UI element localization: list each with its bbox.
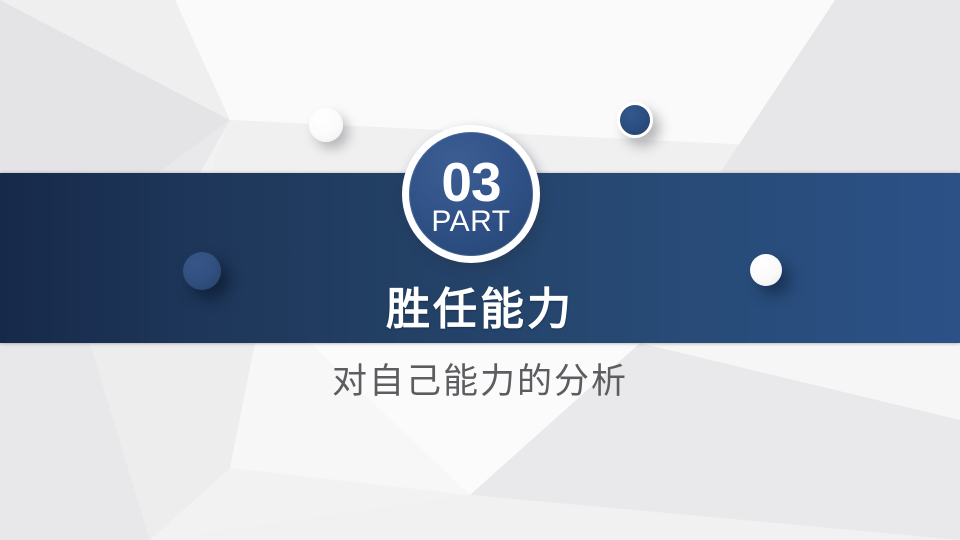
section-title: 胜任能力 [0, 273, 960, 337]
badge-part-label: PART [431, 207, 510, 237]
section-subtitle: 对自己能力的分析 [0, 353, 960, 404]
section-number-badge: 03 PART [402, 125, 540, 263]
white-circle-decoration-top-left [309, 108, 343, 142]
slide-canvas: 03 PART 胜任能力 对自己能力的分析 [0, 0, 960, 540]
blue-circle-decoration-top-right [617, 102, 653, 138]
badge-number: 03 [441, 157, 500, 209]
